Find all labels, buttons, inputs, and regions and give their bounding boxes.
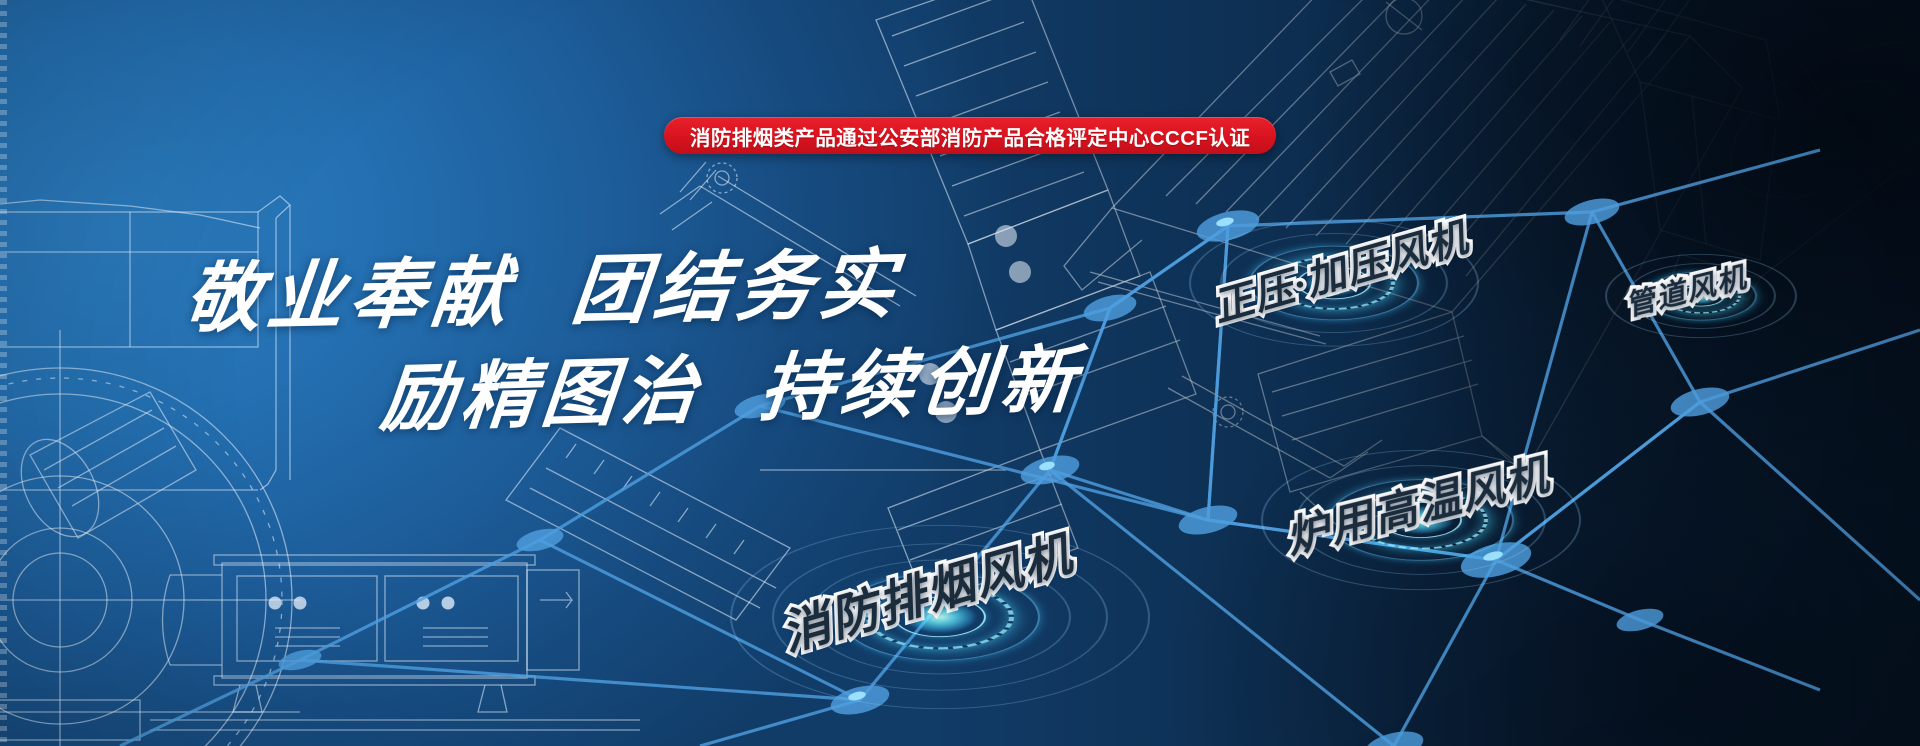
slogan-line-1-part-2: 团结务实 — [568, 243, 905, 334]
slogan-line-2: 励精图治持续创新 — [377, 343, 1071, 442]
slogan-line-2-part-1: 励精图治 — [377, 351, 706, 442]
certification-banner[interactable]: 消防排烟类产品通过公安部消防产品合格评定中心CCCF认证 — [664, 117, 1276, 154]
slogan-block: 敬业奉献团结务实 励精图治持续创新 — [186, 250, 1066, 432]
slogan-line-2-part-2: 持续创新 — [756, 340, 1085, 431]
certification-banner-text: 消防排烟类产品通过公安部消防产品合格评定中心CCCF认证 — [690, 121, 1250, 151]
left-edge-ticks — [0, 0, 7, 746]
hero-banner: 正压·加压风机 管道风机 炉用高温风机 — [0, 0, 1920, 746]
slogan-line-1-part-1: 敬业奉献 — [181, 251, 518, 342]
slogan-line-1: 敬业奉献团结务实 — [181, 241, 1071, 341]
